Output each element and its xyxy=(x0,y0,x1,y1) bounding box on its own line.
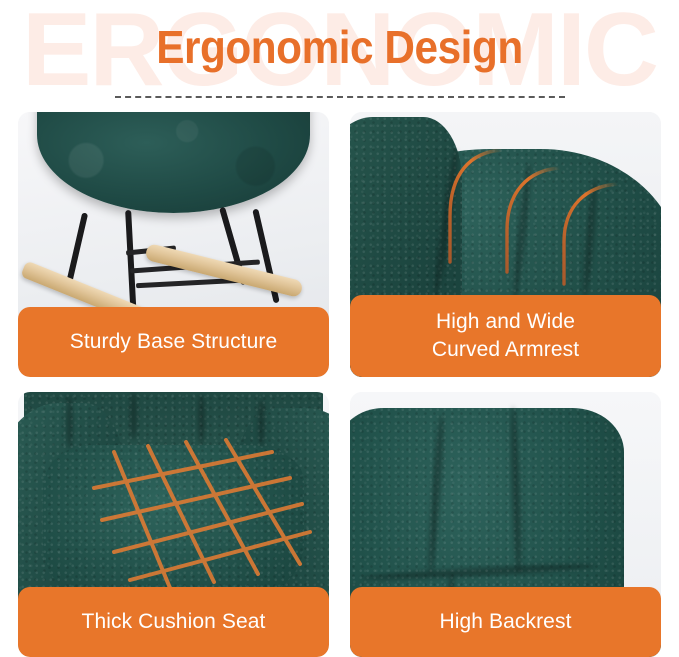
caption-thick-cushion-seat: Thick Cushion Seat xyxy=(18,587,329,657)
feature-card-thick-cushion-seat[interactable]: Thick Cushion Seat xyxy=(18,392,329,657)
dashed-divider xyxy=(115,96,565,98)
caption-line: Sturdy Base Structure xyxy=(70,328,278,356)
feature-card-high-backrest[interactable]: High Backrest xyxy=(350,392,661,657)
header-banner: ERGONOMIC Ergonomic Design xyxy=(0,0,679,112)
caption-line: High and Wide xyxy=(436,308,575,336)
page-title: Ergonomic Design xyxy=(27,22,652,73)
feature-card-curved-armrest[interactable]: High and Wide Curved Armrest xyxy=(350,112,661,377)
caption-line: Thick Cushion Seat xyxy=(82,608,266,636)
caption-line: Curved Armrest xyxy=(432,336,579,364)
caption-high-backrest: High Backrest xyxy=(350,587,661,657)
caption-curved-armrest: High and Wide Curved Armrest xyxy=(350,295,661,377)
caption-sturdy-base-structure: Sturdy Base Structure xyxy=(18,307,329,377)
feature-card-sturdy-base-structure[interactable]: Sturdy Base Structure xyxy=(18,112,329,377)
feature-card-grid: Sturdy Base Structure xyxy=(0,112,679,657)
caption-line: High Backrest xyxy=(439,608,571,636)
